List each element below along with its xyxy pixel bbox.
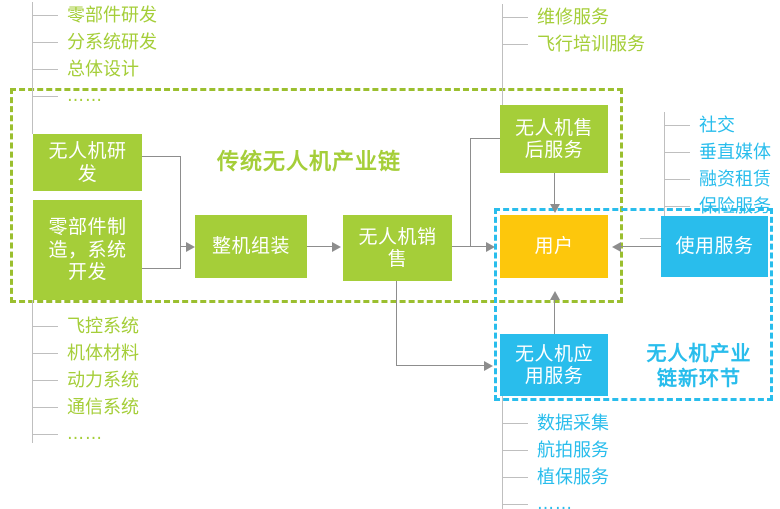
connector-rd-out <box>142 156 180 157</box>
branch-item-usage-1: 垂直媒体 <box>664 139 780 166</box>
branch-tick-icon <box>32 15 58 16</box>
branch-item-usage-0: 社交 <box>664 112 780 139</box>
branch-tick-icon <box>502 504 528 505</box>
branch-tick-icon <box>664 152 690 153</box>
connector-parts-out <box>142 268 180 269</box>
branch-stem-app <box>502 396 503 412</box>
branch-label: 航拍服务 <box>537 442 609 460</box>
branch-tick-icon <box>664 206 690 207</box>
branch-item-parts-4: …… <box>32 421 242 448</box>
branch-tick-icon <box>32 407 58 408</box>
branch-label: 垂直媒体 <box>699 144 771 162</box>
connector-assembly-sales <box>307 246 334 247</box>
branch-tick-icon <box>32 353 58 354</box>
region-title-new-links-line2: 链新环节 <box>634 366 764 391</box>
branch-tick-icon <box>502 423 528 424</box>
branch-label: 保险服务 <box>699 198 771 216</box>
region-title-new-links-line1: 无人机产业 <box>634 341 764 366</box>
branch-label: …… <box>67 426 103 443</box>
branch-tick-icon <box>502 17 528 18</box>
branch-item-parts-1: 机体材料 <box>32 340 242 367</box>
box-aftersales-service[interactable]: 无人机售后服务 <box>500 105 608 173</box>
branch-label: 社交 <box>699 117 735 135</box>
branch-label: 飞行培训服务 <box>537 36 645 54</box>
branch-label: 分系统研发 <box>67 34 157 52</box>
branch-label: …… <box>67 88 103 105</box>
branch-tick-icon <box>32 96 58 97</box>
diagram-canvas: 传统无人机产业链 无人机产业 链新环节 零部件研发 分系统研发 总体设计 …… … <box>0 0 780 509</box>
connector-sales-app-vertical <box>396 281 397 365</box>
branch-label: 飞控系统 <box>67 318 139 336</box>
branch-item-rd-1: 分系统研发 <box>32 29 242 56</box>
branch-list-rd: 零部件研发 分系统研发 总体设计 …… <box>32 2 242 90</box>
box-assembly[interactable]: 整机组装 <box>195 215 307 278</box>
branch-tick-icon <box>502 450 528 451</box>
branch-label: 机体材料 <box>67 345 139 363</box>
branch-stem-rd <box>32 86 33 134</box>
box-drone-sales[interactable]: 无人机销售 <box>343 215 452 281</box>
branch-item-parts-2: 动力系统 <box>32 367 242 394</box>
branch-list-app: 数据采集 航拍服务 植保服务 …… <box>502 410 702 509</box>
arrow-to-assembly <box>186 242 195 252</box>
branch-label: 零部件研发 <box>67 7 157 25</box>
box-drone-rd[interactable]: 无人机研发 <box>33 134 142 191</box>
arrow-to-user <box>486 242 495 252</box>
branch-tick-icon <box>32 434 58 435</box>
branch-tick-icon <box>502 477 528 478</box>
branch-label: 维修服务 <box>537 9 609 27</box>
connector-sales-aftersales-vertical <box>470 138 471 246</box>
branch-label: 数据采集 <box>537 415 609 433</box>
box-user[interactable]: 用户 <box>500 215 608 278</box>
branch-item-parts-0: 飞控系统 <box>32 313 242 340</box>
branch-tick-icon <box>32 42 58 43</box>
branch-item-app-0: 数据采集 <box>502 410 702 437</box>
box-usage-service[interactable]: 使用服务 <box>661 216 768 277</box>
branch-item-app-3: …… <box>502 491 702 509</box>
branch-label: 植保服务 <box>537 469 609 487</box>
branch-list-aftersales: 维修服务 飞行培训服务 <box>502 4 732 62</box>
branch-item-parts-3: 通信系统 <box>32 394 242 421</box>
region-title-traditional: 传统无人机产业链 <box>217 144 401 176</box>
box-parts-manufacturing[interactable]: 零部件制造，系统开发 <box>33 200 142 300</box>
arrow-app-to-user <box>550 291 560 300</box>
branch-label: 动力系统 <box>67 372 139 390</box>
arrow-to-sales <box>332 242 341 252</box>
branch-tick-icon <box>502 44 528 45</box>
branch-item-rd-3: …… <box>32 83 242 110</box>
branch-item-aftersales-0: 维修服务 <box>502 4 732 31</box>
branch-stem-parts <box>32 300 33 316</box>
connector-sales-aftersales-horizontal <box>470 138 500 139</box>
branch-label: …… <box>537 496 573 509</box>
branch-item-aftersales-1: 飞行培训服务 <box>502 31 732 58</box>
arrow-to-app-service <box>484 361 493 371</box>
branch-tick-icon <box>32 69 58 70</box>
branch-tick-icon <box>664 179 690 180</box>
branch-item-app-1: 航拍服务 <box>502 437 702 464</box>
branch-item-rd-0: 零部件研发 <box>32 2 242 29</box>
connector-aftersales-user <box>554 173 555 205</box>
branch-tick-icon <box>32 380 58 381</box>
branch-stem-aftersales <box>502 58 503 106</box>
box-app-service[interactable]: 无人机应用服务 <box>500 334 608 396</box>
connector-merge-vertical <box>180 156 181 269</box>
region-title-new-links: 无人机产业 链新环节 <box>634 341 764 391</box>
branch-label: 通信系统 <box>67 399 139 417</box>
connector-sales-app-horizontal <box>396 365 486 366</box>
branch-tick-icon <box>32 326 58 327</box>
branch-label: 总体设计 <box>67 61 139 79</box>
branch-list-usage: 社交 垂直媒体 融资租赁 保险服务 <box>664 112 780 220</box>
connector-app-user <box>554 300 555 334</box>
branch-item-usage-2: 融资租赁 <box>664 166 780 193</box>
connector-sales-user <box>452 246 488 247</box>
connector-usage-user <box>620 246 661 247</box>
arrow-aftersales-to-user <box>550 204 560 213</box>
branch-label: 融资租赁 <box>699 171 771 189</box>
branch-tick-icon <box>664 125 690 126</box>
branch-list-parts: 飞控系统 机体材料 动力系统 通信系统 …… <box>32 313 242 443</box>
branch-item-rd-2: 总体设计 <box>32 56 242 83</box>
branch-item-app-2: 植保服务 <box>502 464 702 491</box>
arrow-usage-to-user <box>612 242 621 252</box>
